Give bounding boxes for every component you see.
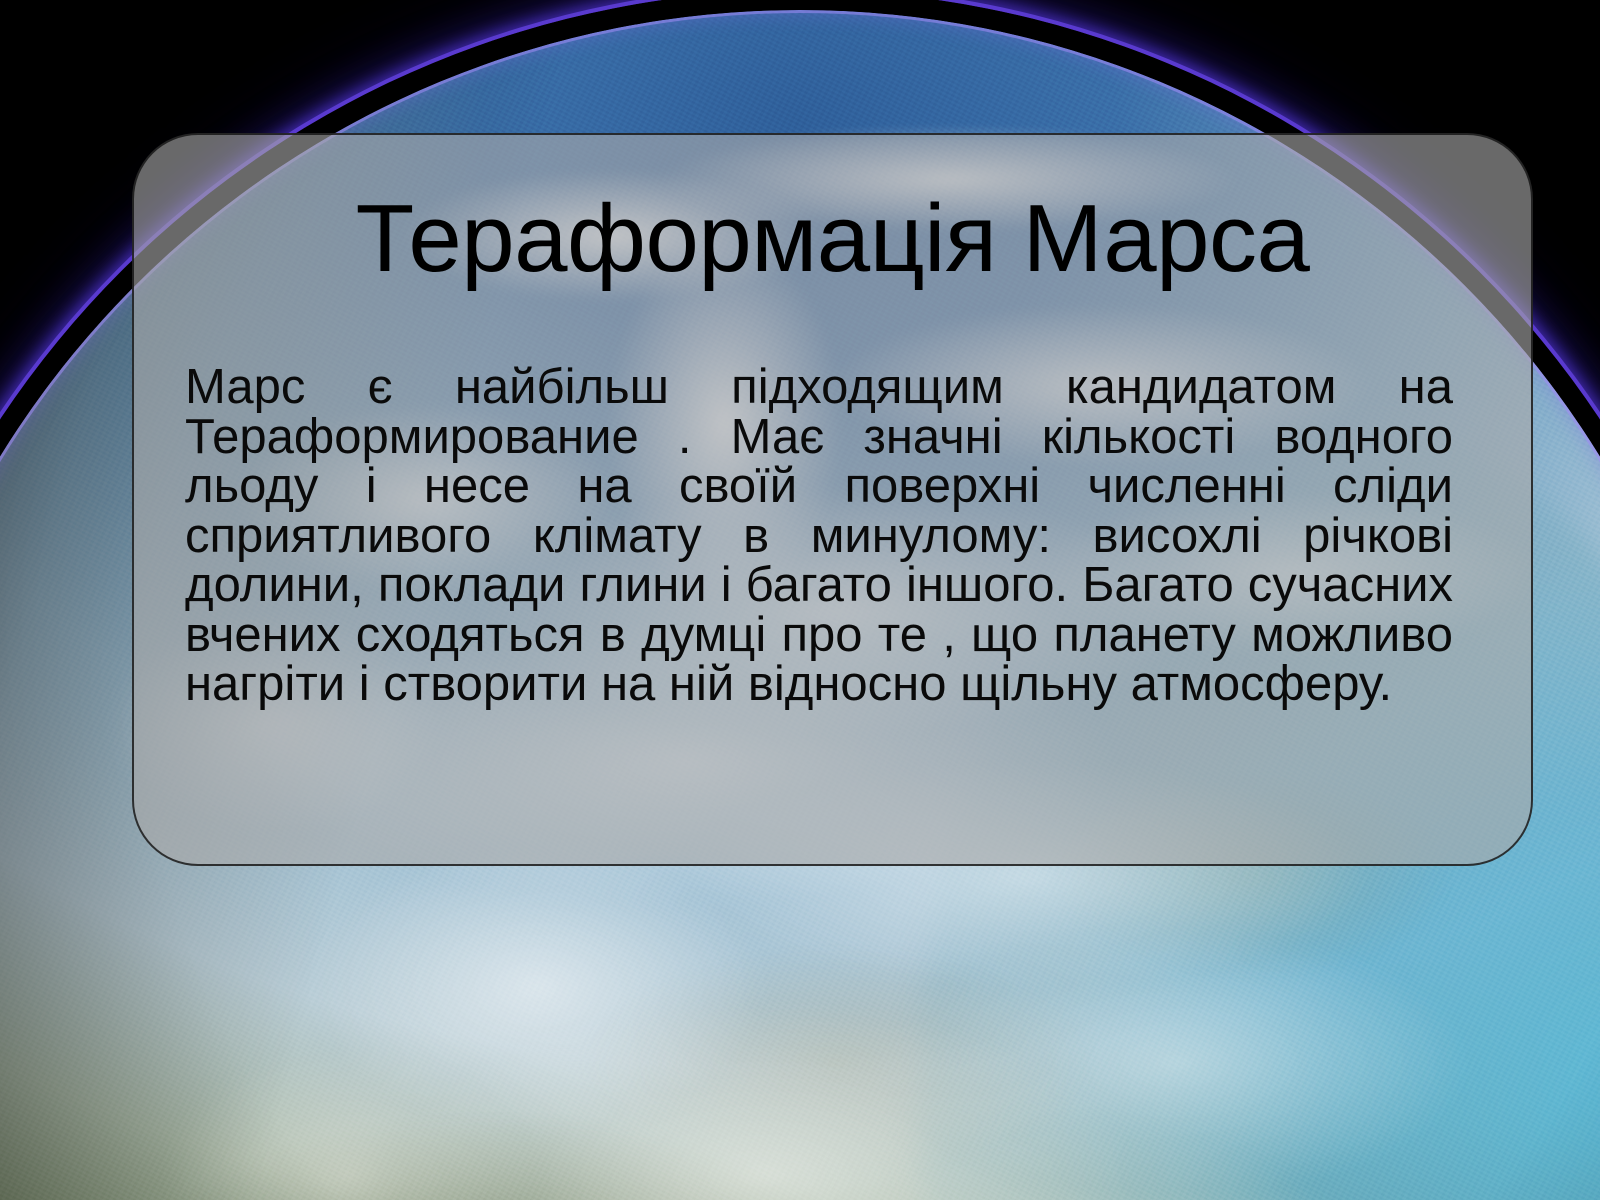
slide-body-text: Марс є найбільш підходящим кандидатом на… [185, 363, 1453, 710]
presentation-slide: Тераформація Марса Марс є найбільш підхо… [0, 0, 1600, 1200]
slide-title: Тераформація Марса [134, 191, 1531, 287]
content-panel: Тераформація Марса Марс є найбільш підхо… [132, 133, 1533, 866]
content-panel-inner: Тераформація Марса Марс є найбільш підхо… [134, 135, 1531, 864]
